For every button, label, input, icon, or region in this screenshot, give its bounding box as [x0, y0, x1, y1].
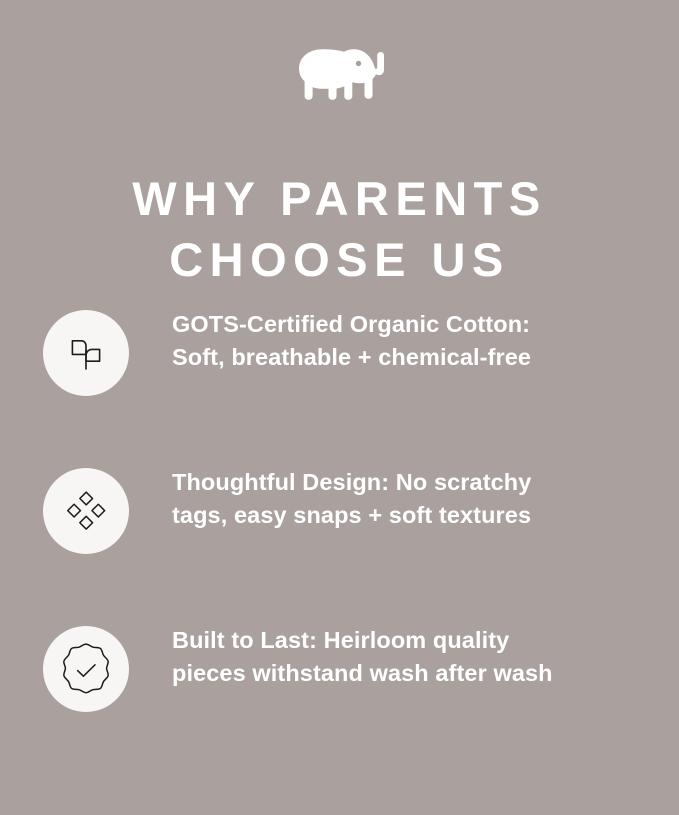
benefit-text: Built to Last: Heirloom quality pieces w…	[172, 624, 651, 691]
elephant-icon	[292, 37, 388, 107]
sprout-icon	[63, 330, 109, 376]
page-title: WHY PARENTS CHOOSE US	[0, 169, 679, 289]
benefits-list: GOTS-Certified Organic Cotton: Soft, bre…	[0, 296, 679, 770]
brand-logo	[0, 36, 679, 108]
benefit-icon-badge	[43, 310, 129, 396]
benefit-item-built-to-last: Built to Last: Heirloom quality pieces w…	[0, 612, 679, 770]
benefit-text: GOTS-Certified Organic Cotton: Soft, bre…	[172, 308, 651, 375]
four-diamonds-icon	[63, 488, 109, 534]
benefit-icon-badge	[43, 468, 129, 554]
benefit-text: Thoughtful Design: No scratchy tags, eas…	[172, 466, 651, 533]
scalloped-check-badge-icon	[60, 643, 112, 695]
benefit-item-organic-cotton: GOTS-Certified Organic Cotton: Soft, bre…	[0, 296, 679, 454]
benefit-icon-badge	[43, 626, 129, 712]
benefit-item-thoughtful-design: Thoughtful Design: No scratchy tags, eas…	[0, 454, 679, 612]
why-parents-choose-us-panel: WHY PARENTS CHOOSE US GOTS-Certified Org…	[0, 0, 679, 815]
